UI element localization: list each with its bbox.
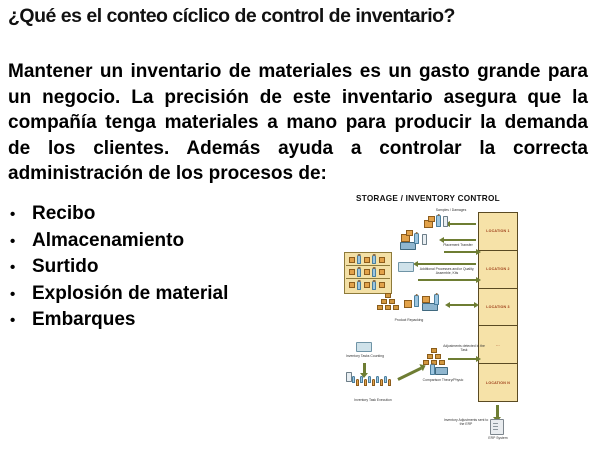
list-item-label: Explosión de material (32, 281, 228, 307)
adjustments-detected-label: Adjustments detected in the Task (442, 344, 486, 352)
pallet-icon (398, 262, 414, 272)
location-cell-2: LOCATION 2 (479, 251, 517, 289)
bullet-marker-icon: • (10, 255, 32, 281)
bullet-marker-icon: • (10, 308, 32, 334)
bullet-marker-icon: • (10, 229, 32, 255)
additional-processes-arrow-out-icon (418, 279, 476, 281)
inventory-task-execution-label: Inventory Task Execution (340, 398, 406, 402)
process-bullet-list: • Recibo • Almacenamiento • Surtido • Ex… (10, 201, 330, 334)
comparison-theory-physic-label: Comparison Theory/Physic (414, 378, 472, 382)
list-item-label: Recibo (32, 201, 95, 227)
diagram-title: STORAGE / INVENTORY CONTROL (356, 194, 500, 203)
samples-damages-arrow-icon (450, 223, 476, 225)
location-cell-3: LOCATION 3 (479, 289, 517, 327)
counting-down-arrow-icon (363, 363, 366, 373)
list-item: • Embarques (10, 307, 330, 334)
erp-down-arrow-icon (496, 405, 499, 417)
storage-inventory-control-diagram: STORAGE / INVENTORY CONTROL LOCATION 1 L… (338, 192, 560, 444)
samples-damages-label: Samples / Damages (420, 208, 482, 212)
list-item: • Recibo (10, 201, 330, 228)
inventory-tasks-counting-icon (356, 342, 372, 352)
location-column: LOCATION 1 LOCATION 2 LOCATION 3 ... LOC… (478, 212, 518, 402)
list-item-label: Surtido (32, 254, 99, 280)
bullet-marker-icon: • (10, 202, 32, 228)
product-repacking-arrow-icon (450, 304, 474, 306)
list-item: • Explosión de material (10, 281, 330, 308)
warehouse-shelf-icon (344, 252, 392, 294)
list-item-label: Embarques (32, 307, 135, 333)
erp-system-label: ERP System (482, 436, 514, 440)
product-repacking-label: Product Repacking (380, 318, 438, 322)
body-paragraph: Mantener un inventario de materiales es … (8, 59, 588, 187)
placement-transfer-arrow-in-icon (444, 239, 476, 241)
adjustments-detected-arrow-icon (448, 358, 476, 360)
list-item: • Surtido (10, 254, 330, 281)
list-item-label: Almacenamiento (32, 228, 184, 254)
inventory-task-execution-crowd-icon (352, 376, 396, 394)
erp-server-icon (490, 419, 504, 435)
inventory-tasks-counting-label: Inventory Tasks Counting (344, 354, 386, 358)
additional-processes-label: Additional Processes and/or Quality, Ass… (412, 267, 482, 275)
page-title: ¿Qué es el conteo cíclico de control de … (8, 4, 592, 28)
list-item: • Almacenamiento (10, 228, 330, 255)
bullet-marker-icon: • (10, 282, 32, 308)
location-cell-n: LOCATION N (479, 364, 517, 401)
additional-processes-arrow-in-icon (418, 263, 476, 265)
placement-transfer-label: Placement Transfer (428, 243, 488, 247)
inventory-adjustments-erp-label: Inventory Adjustments sent to the ERP (442, 418, 490, 426)
placement-transfer-arrow-out-icon (444, 251, 476, 253)
